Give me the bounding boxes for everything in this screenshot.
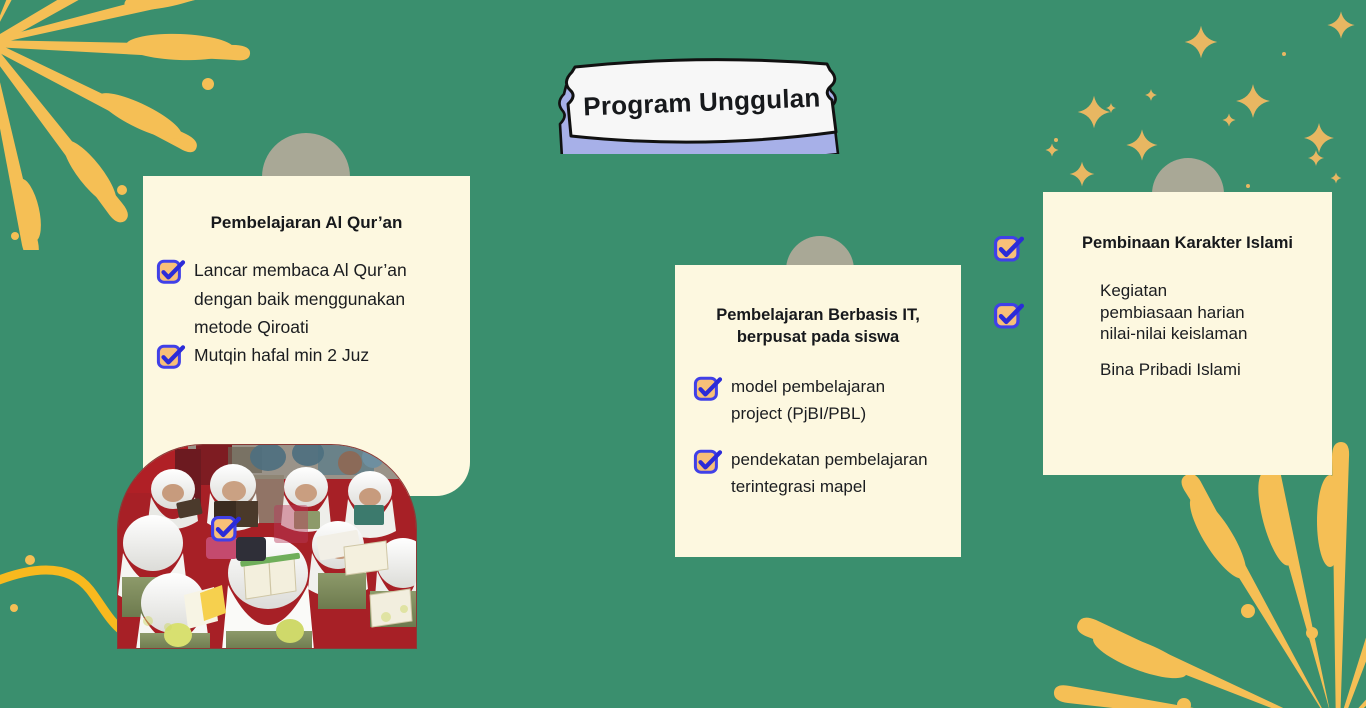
slide-canvas: Program Unggulan Pembelajaran Al Qur’an …: [0, 0, 1366, 708]
card-pembelajaran-berbasis-it: Pembelajaran Berbasis IT, berpusat pada …: [675, 265, 961, 557]
checkbox-checked-icon-on-photo: [210, 512, 242, 549]
card-pembinaan-karakter-islami: Pembinaan Karakter Islami Kegiatan pembi…: [1043, 192, 1332, 475]
card-3-title: Pembinaan Karakter Islami: [1043, 192, 1332, 255]
card-3-line-2: pembiasaan harian: [1100, 302, 1332, 324]
card-2-bullet-list: model pembelajaran project (PjBI/PBL) pe…: [675, 349, 961, 501]
card-1-title: Pembelajaran Al Qur’an: [143, 176, 470, 234]
card-3-line-3: nilai-nilai keislaman: [1100, 323, 1332, 345]
list-item-text: Mutqin hafal min 2 Juz: [194, 341, 424, 369]
photo-siswi-membaca-quran: [117, 444, 417, 649]
list-item: Lancar membaca Al Qur’an dengan baik men…: [156, 256, 470, 341]
list-item-text: model pembelajaran project (PjBI/PBL): [731, 373, 939, 428]
list-item-text: Lancar membaca Al Qur’an dengan baik men…: [194, 256, 424, 341]
list-item: Mutqin hafal min 2 Juz: [156, 341, 470, 371]
checkbox-checked-icon: [156, 341, 186, 371]
list-item-text: pendekatan pembelajaran terintegrasi map…: [731, 446, 939, 501]
card-3-line-1: Kegiatan: [1100, 280, 1332, 302]
list-item: model pembelajaran project (PjBI/PBL): [693, 373, 961, 428]
checkbox-checked-icon-card-3-a: [993, 232, 1025, 269]
checkbox-checked-icon: [693, 373, 723, 403]
page-title: Program Unggulan: [544, 52, 859, 160]
checkbox-checked-icon: [693, 446, 723, 476]
card-3-body: Kegiatan pembiasaan harian nilai-nilai k…: [1043, 255, 1332, 381]
list-item: pendekatan pembelajaran terintegrasi map…: [693, 446, 961, 501]
checkbox-checked-icon-card-3-b: [993, 299, 1025, 336]
slide-title-ribbon: Program Unggulan: [546, 58, 858, 154]
card-1-bullet-list: Lancar membaca Al Qur’an dengan baik men…: [143, 234, 470, 371]
card-3-extra-line: Bina Pribadi Islami: [1100, 359, 1332, 381]
checkbox-checked-icon: [156, 256, 186, 286]
card-2-title: Pembelajaran Berbasis IT, berpusat pada …: [675, 265, 961, 349]
